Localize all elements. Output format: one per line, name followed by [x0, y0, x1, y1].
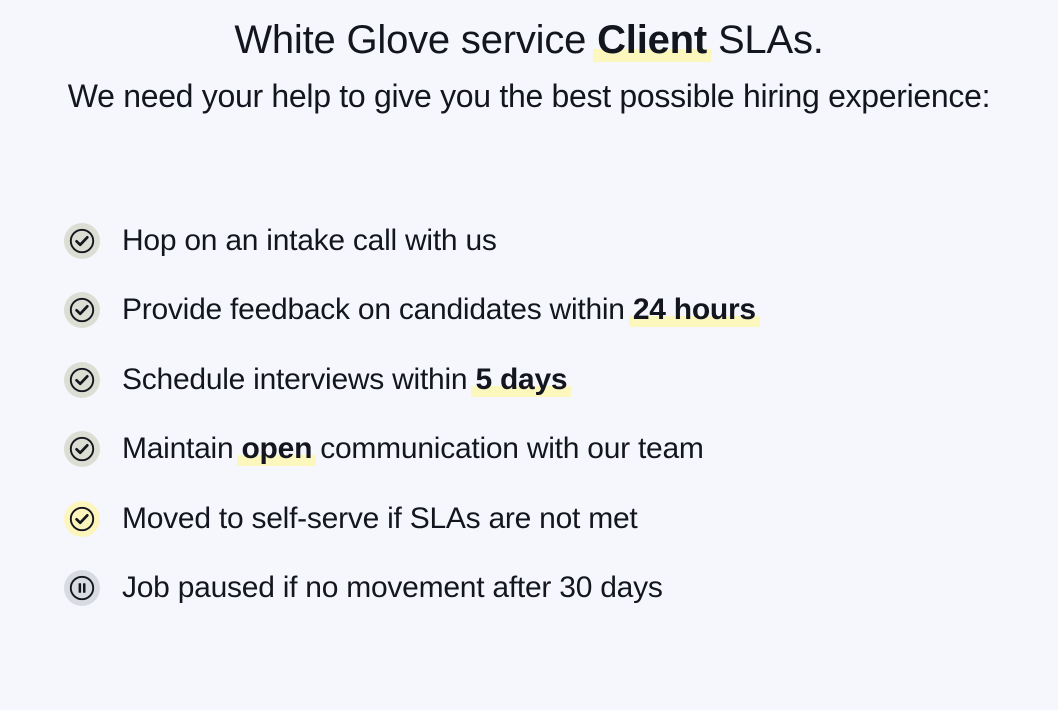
check-circle-icon — [64, 362, 100, 398]
list-item-text: Moved to self-serve if SLAs are not met — [122, 501, 637, 537]
list-item-icon-wrap — [62, 290, 102, 330]
slide-root: White Glove service Client SLAs. We need… — [0, 0, 1058, 710]
pause-circle-icon — [64, 570, 100, 606]
list-item-text: Hop on an intake call with us — [122, 223, 497, 259]
check-circle-icon — [64, 223, 100, 259]
check-circle-icon — [64, 431, 100, 467]
list-item-text: Provide feedback on candidates within 24… — [122, 292, 756, 328]
list-item-highlight: 5 days — [475, 362, 567, 398]
list-item: Moved to self-serve if SLAs are not met — [62, 484, 756, 554]
list-item: Provide feedback on candidates within 24… — [62, 276, 756, 346]
page-title-highlight: Client — [597, 17, 707, 64]
header: White Glove service Client SLAs. We need… — [0, 0, 1058, 116]
page-title-part1: White Glove service — [234, 18, 597, 62]
page-subtitle: We need your help to give you the best p… — [0, 77, 1058, 116]
page-title: White Glove service Client SLAs. — [0, 17, 1058, 64]
list-item-icon-wrap — [62, 360, 102, 400]
check-circle-icon — [64, 501, 100, 537]
list-item-text-before: Hop on an intake call with us — [122, 224, 497, 257]
list-item-icon-wrap — [62, 568, 102, 608]
list-item-highlight: 24 hours — [633, 292, 756, 328]
list-item-highlight: open — [241, 431, 312, 467]
list-item: Hop on an intake call with us — [62, 206, 756, 276]
list-item-text-before: Provide feedback on candidates within — [122, 293, 633, 326]
list-item-text-before: Maintain — [122, 432, 241, 465]
list-item: Job paused if no movement after 30 days — [62, 554, 756, 624]
list-item-icon-wrap — [62, 429, 102, 469]
list-item-text-before: Job paused if no movement after 30 days — [122, 571, 663, 604]
list-item-text: Schedule interviews within 5 days — [122, 362, 567, 398]
list-item-text: Job paused if no movement after 30 days — [122, 570, 663, 606]
list-item-text-before: Schedule interviews within — [122, 363, 475, 396]
list-item-text-before: Moved to self-serve if SLAs are not met — [122, 502, 637, 535]
list-item: Maintain open communication with our tea… — [62, 415, 756, 485]
list-item-icon-wrap — [62, 221, 102, 261]
check-circle-icon — [64, 292, 100, 328]
page-title-part2: SLAs. — [707, 18, 824, 62]
list-item-text: Maintain open communication with our tea… — [122, 431, 704, 467]
list-item: Schedule interviews within 5 days — [62, 345, 756, 415]
list-item-icon-wrap — [62, 499, 102, 539]
sla-list: Hop on an intake call with us Provide fe… — [62, 206, 756, 623]
list-item-text-after: communication with our team — [312, 432, 704, 465]
